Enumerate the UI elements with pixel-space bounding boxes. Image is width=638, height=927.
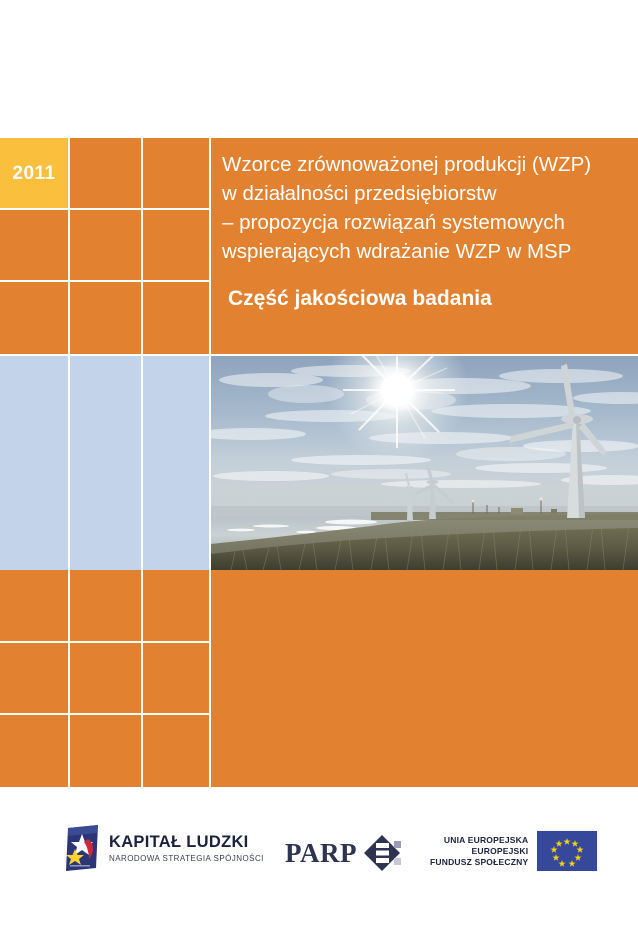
logo-unia-europejska: UNIA EUROPEJSKA EUROPEJSKI FUNDUSZ SPOŁE…: [430, 831, 597, 871]
cover-page: 2011 Wzorce zrównoważonej produkcji (WZP…: [0, 0, 638, 927]
grid-divider-horizontal: [0, 280, 209, 282]
logo-parp: PARP: [285, 833, 404, 873]
kapital-ludzki-title: KAPITAŁ LUDZKI: [109, 833, 264, 851]
blue-panel: [0, 356, 209, 570]
kapital-ludzki-emblem-icon: [64, 825, 100, 871]
grid-divider-horizontal: [0, 713, 209, 715]
parp-diamond-icon: [364, 833, 404, 873]
grid-divider-vertical: [68, 138, 70, 354]
grid-divider-vertical: [141, 570, 143, 787]
title-line-4: wspierających wdrażanie WZP w MSP: [222, 237, 622, 266]
title-line-2: w działalności przedsiębiorstw: [222, 179, 622, 208]
eu-line-3: FUNDUSZ SPOŁECZNY: [430, 857, 528, 868]
kapital-ludzki-text: KAPITAŁ LUDZKI NARODOWA STRATEGIA SPÓJNO…: [109, 833, 264, 864]
parp-wordmark: PARP: [285, 839, 357, 867]
wind-turbine-photo-illustration: [211, 356, 638, 570]
eu-line-1: UNIA EUROPEJSKA: [430, 835, 528, 846]
subtitle: Część jakościowa badania: [228, 284, 622, 313]
photo-band: [0, 356, 638, 570]
eu-flag-icon: [537, 831, 597, 871]
grid-divider-horizontal: [0, 641, 209, 643]
logo-kapital-ludzki: KAPITAŁ LUDZKI NARODOWA STRATEGIA SPÓJNO…: [64, 825, 264, 871]
grid-divider-vertical: [68, 570, 70, 787]
grid-divider-vertical: [209, 570, 211, 787]
blue-divider-vertical: [68, 356, 70, 570]
eu-line-2: EUROPEJSKI: [430, 846, 528, 857]
logo-strip: KAPITAŁ LUDZKI NARODOWA STRATEGIA SPÓJNO…: [0, 815, 638, 895]
grid-divider-vertical: [141, 138, 143, 354]
blue-divider-vertical: [141, 356, 143, 570]
eu-text: UNIA EUROPEJSKA EUROPEJSKI FUNDUSZ SPOŁE…: [430, 835, 528, 868]
grid-divider-vertical: [209, 138, 211, 354]
title-line-3: – propozycja rozwiązań systemowych: [222, 208, 622, 237]
footer-band: [0, 570, 638, 787]
year-label: 2011: [0, 138, 68, 210]
title-block: Wzorce zrównoważonej produkcji (WZP) w d…: [222, 150, 622, 313]
cover-photo: [211, 356, 638, 570]
kapital-ludzki-subtitle: NARODOWA STRATEGIA SPÓJNOŚCI: [109, 853, 264, 864]
title-line-1: Wzorce zrównoważonej produkcji (WZP): [222, 150, 622, 179]
